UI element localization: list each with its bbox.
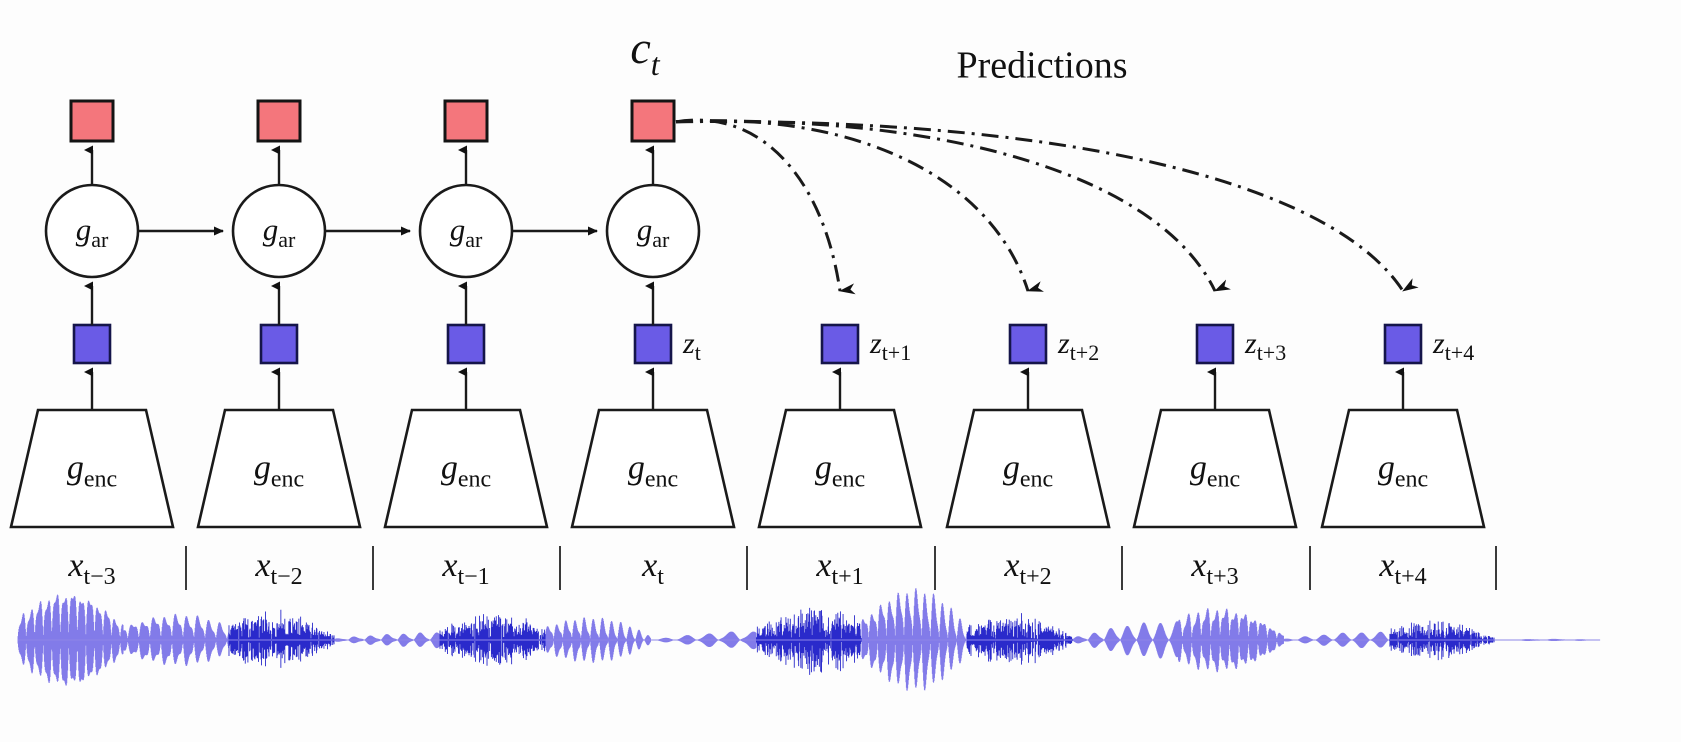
- cpc-architecture-figure: gencgarxt−3gencgarxt−2gencgarxt−1gencztg…: [0, 0, 1681, 742]
- predictions-label: Predictions: [957, 45, 1128, 87]
- context-vector-label: ct: [630, 22, 660, 83]
- label-canvas: ct Predictions: [0, 0, 1681, 742]
